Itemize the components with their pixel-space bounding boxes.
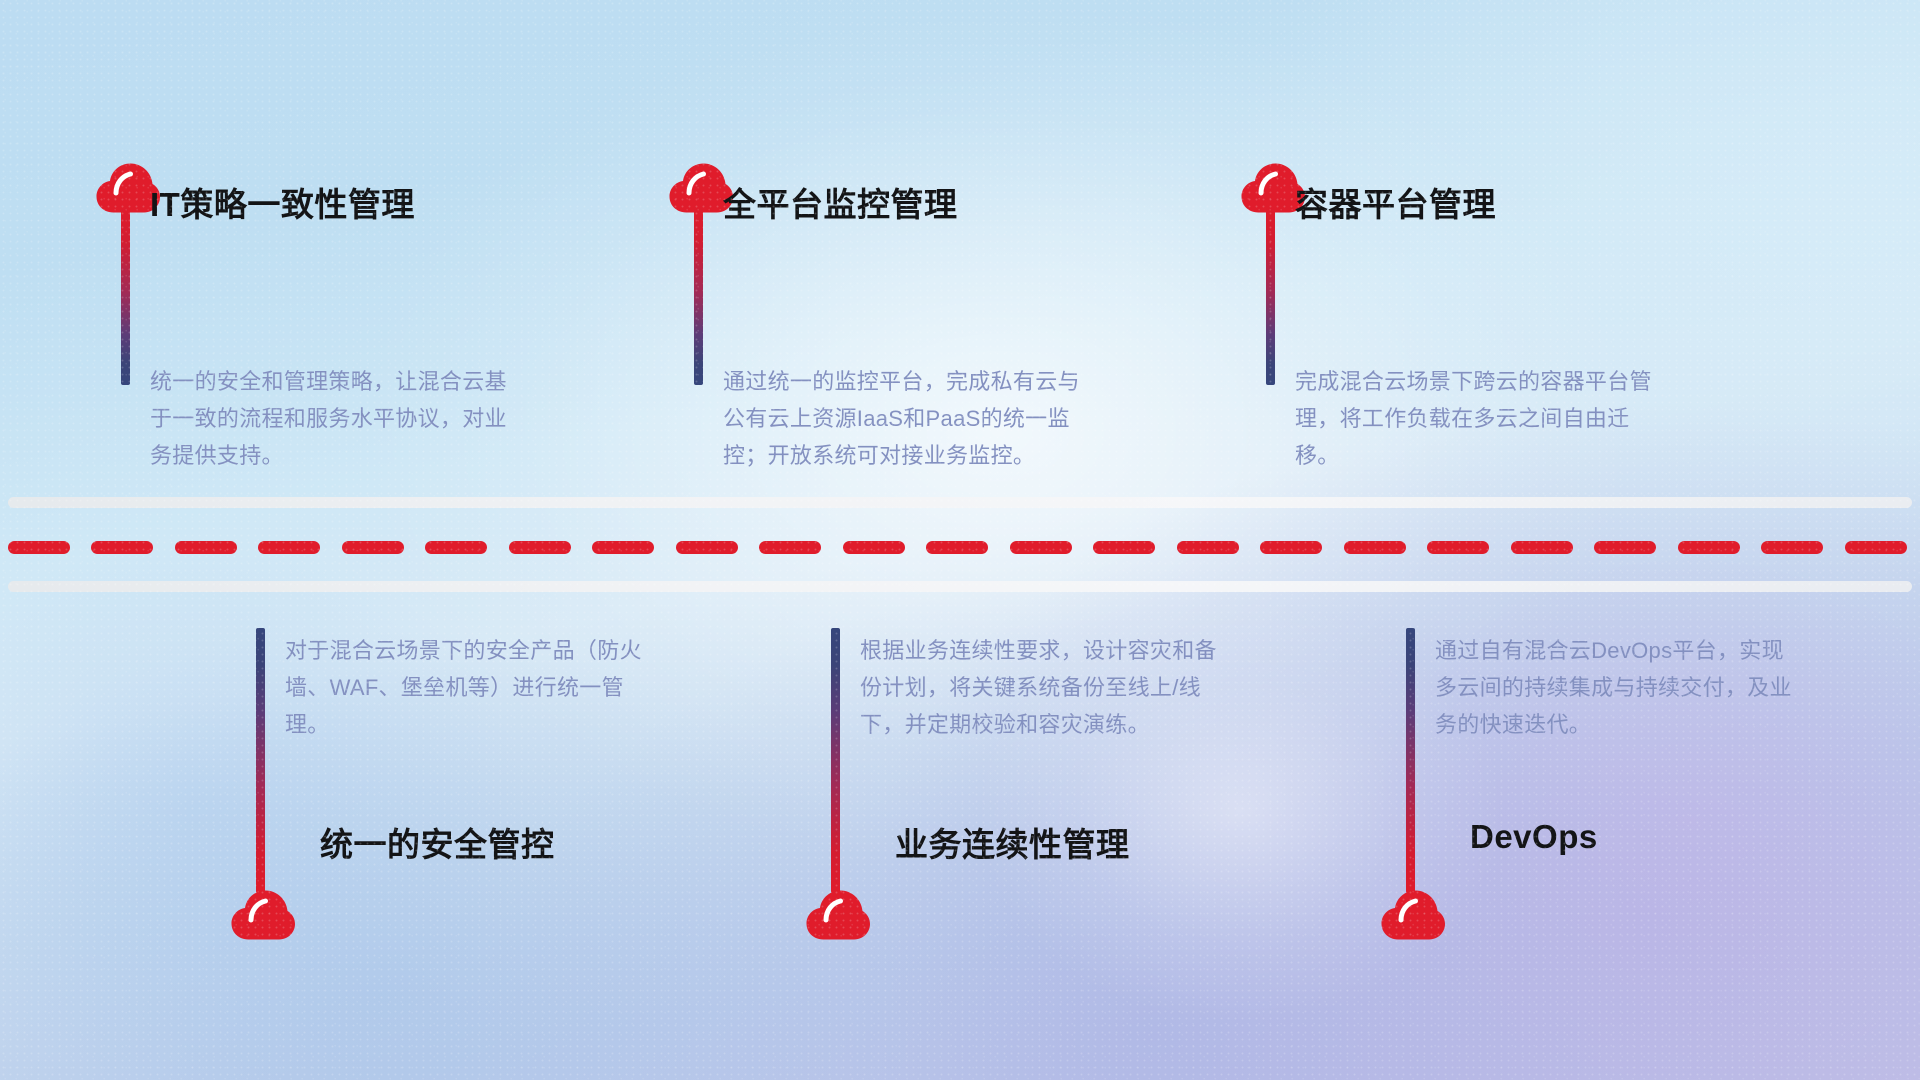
dash-segment [425,541,487,554]
dash-segment [91,541,153,554]
dash-segment [175,541,237,554]
dash-segment [592,541,654,554]
dash-segment [1678,541,1740,554]
connector-pole [1266,205,1275,385]
card-title: DevOps [1470,818,1598,856]
connector-pole [1406,628,1415,893]
dash-segment [342,541,404,554]
dash-segment [1427,541,1489,554]
dash-segment [1845,541,1907,554]
dash-segment [759,541,821,554]
cloud-icon [230,890,296,940]
dash-segment [509,541,571,554]
connector-pole [694,205,703,385]
card-title: IT策略一致性管理 [150,178,415,226]
connector-pole [831,628,840,893]
dash-segment [1010,541,1072,554]
dash-segment [8,541,70,554]
card-body: 通过自有混合云DevOps平台，实现多云间的持续集成与持续交付，及业务的快速迭代… [1435,632,1795,743]
connector-pole [121,205,130,385]
dash-segment [1093,541,1155,554]
card-title: 全平台监控管理 [723,178,958,226]
cloud-icon [1380,890,1446,940]
card-body: 通过统一的监控平台，完成私有云与公有云上资源IaaS和PaaS的统一监控；开放系… [723,363,1083,474]
connector-pole [256,628,265,893]
card-body: 统一的安全和管理策略，让混合云基于一致的流程和服务水平协议，对业务提供支持。 [150,363,510,474]
dash-segment [1511,541,1573,554]
dash-segment [1344,541,1406,554]
card-title: 业务连续性管理 [895,818,1130,866]
red-dashed-separator [0,541,1920,554]
card-title: 容器平台管理 [1295,178,1496,226]
dash-segment [258,541,320,554]
dash-segment [1177,541,1239,554]
card-body: 对于混合云场景下的安全产品（防火墙、WAF、堡垒机等）进行统一管理。 [285,632,645,743]
dash-segment [843,541,905,554]
cloud-icon [805,890,871,940]
dash-segment [1761,541,1823,554]
infographic-canvas: IT策略一致性管理 统一的安全和管理策略，让混合云基于一致的流程和服务水平协议，… [0,0,1920,1080]
dash-segment [926,541,988,554]
divider-bar-bottom [8,581,1912,592]
dash-segment [1260,541,1322,554]
card-title: 统一的安全管控 [320,818,555,866]
dash-segment [676,541,738,554]
card-body: 根据业务连续性要求，设计容灾和备份计划，将关键系统备份至线上/线下，并定期校验和… [860,632,1220,743]
card-body: 完成混合云场景下跨云的容器平台管理，将工作负载在多云之间自由迁移。 [1295,363,1655,474]
divider-bar-top [8,497,1912,508]
dash-segment [1594,541,1656,554]
